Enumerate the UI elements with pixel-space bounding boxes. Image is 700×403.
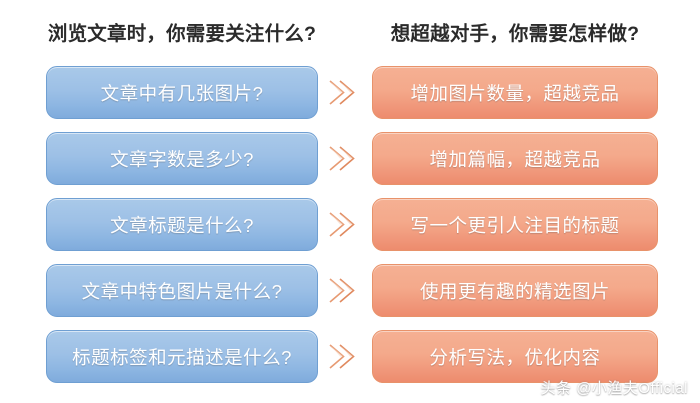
answer-pill[interactable]: 分析写法，优化内容 bbox=[372, 330, 658, 383]
comparison-row: 文章字数是多少? 增加篇幅，超越竞品 bbox=[0, 132, 700, 185]
double-chevron-right-icon bbox=[327, 275, 359, 306]
right-column-header: 想超越对手，你需要怎样做? bbox=[372, 16, 658, 52]
answer-pill[interactable]: 增加图片数量，超越竞品 bbox=[372, 66, 658, 119]
infographic-canvas: 浏览文章时，你需要关注什么? 想超越对手，你需要怎样做? 文章中有几张图片? 增… bbox=[0, 0, 700, 403]
watermark: 头条 @小渔夫Official bbox=[541, 377, 688, 398]
question-pill[interactable]: 文章字数是多少? bbox=[46, 132, 318, 185]
comparison-rows: 文章中有几张图片? 增加图片数量，超越竞品 文章字数是多少? bbox=[0, 66, 700, 396]
comparison-row: 文章中有几张图片? 增加图片数量，超越竞品 bbox=[0, 66, 700, 119]
question-pill[interactable]: 标题标签和元描述是什么? bbox=[46, 330, 318, 383]
comparison-row: 文章标题是什么? 写一个更引人注目的标题 bbox=[0, 198, 700, 251]
question-pill[interactable]: 文章中特色图片是什么? bbox=[46, 264, 318, 317]
answer-pill[interactable]: 使用更有趣的精选图片 bbox=[372, 264, 658, 317]
column-headers: 浏览文章时，你需要关注什么? 想超越对手，你需要怎样做? bbox=[0, 16, 700, 52]
double-chevron-right-icon bbox=[327, 143, 359, 174]
double-chevron-right-icon bbox=[327, 209, 359, 240]
answer-pill[interactable]: 写一个更引人注目的标题 bbox=[372, 198, 658, 251]
left-column-header: 浏览文章时，你需要关注什么? bbox=[46, 16, 318, 52]
double-chevron-right-icon bbox=[327, 341, 359, 372]
answer-pill[interactable]: 增加篇幅，超越竞品 bbox=[372, 132, 658, 185]
double-chevron-right-icon bbox=[327, 77, 359, 108]
question-pill[interactable]: 文章标题是什么? bbox=[46, 198, 318, 251]
comparison-row: 标题标签和元描述是什么? 分析写法，优化内容 bbox=[0, 330, 700, 383]
comparison-row: 文章中特色图片是什么? 使用更有趣的精选图片 bbox=[0, 264, 700, 317]
question-pill[interactable]: 文章中有几张图片? bbox=[46, 66, 318, 119]
